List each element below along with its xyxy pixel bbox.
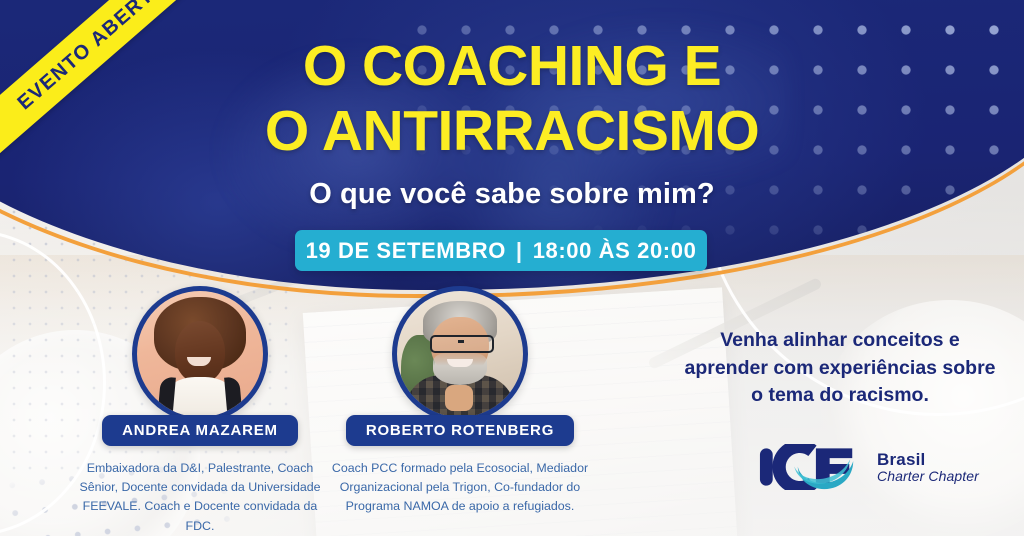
avatar-face bbox=[175, 321, 225, 383]
badge-separator: | bbox=[506, 238, 533, 264]
speaker-card-roberto: ROBERTO ROTENBERG Coach PCC formado pela… bbox=[300, 286, 620, 517]
event-date: 19 DE SETEMBRO bbox=[306, 238, 506, 263]
icf-chapter-label: Charter Chapter bbox=[877, 469, 979, 485]
page-title-line1: O COACHING E bbox=[0, 38, 1024, 95]
speaker-bio: Coach PCC formado pela Ecosocial, Mediad… bbox=[330, 459, 590, 517]
event-time: 18:00 ÀS 20:00 bbox=[533, 238, 697, 263]
speaker-name-plate: ANDREA MAZAREM bbox=[102, 415, 298, 446]
icf-country-label: Brasil bbox=[877, 450, 979, 469]
callout-text: Venha alinhar conceitos e aprender com e… bbox=[684, 327, 996, 410]
avatar-beard bbox=[433, 353, 487, 385]
page-title-line2: O ANTIRRACISMO bbox=[0, 103, 1024, 160]
icf-logo-text: Brasil Charter Chapter bbox=[877, 450, 979, 485]
page-subtitle: O que você sabe sobre mim? bbox=[0, 178, 1024, 211]
speaker-name-plate: ROBERTO ROTENBERG bbox=[346, 415, 574, 446]
badge-text: 19 DE SETEMBRO|18:00 ÀS 20:00 bbox=[306, 238, 697, 264]
avatar bbox=[392, 286, 528, 422]
icf-brand-lockup: Brasil Charter Chapter bbox=[757, 444, 979, 490]
date-time-badge: 19 DE SETEMBRO|18:00 ÀS 20:00 bbox=[295, 230, 707, 271]
icf-logo-icon bbox=[757, 444, 865, 490]
avatar-glasses bbox=[430, 335, 494, 353]
avatar bbox=[132, 286, 268, 422]
speaker-bio: Embaixadora da D&I, Palestrante, Coach S… bbox=[70, 459, 330, 536]
event-poster: EVENTO ABERTO O COACHING E O ANTIRRACISM… bbox=[0, 0, 1024, 536]
avatar-neck bbox=[445, 385, 473, 411]
title-block: O COACHING E O ANTIRRACISMO O que você s… bbox=[0, 38, 1024, 211]
avatar-smile bbox=[447, 359, 473, 367]
